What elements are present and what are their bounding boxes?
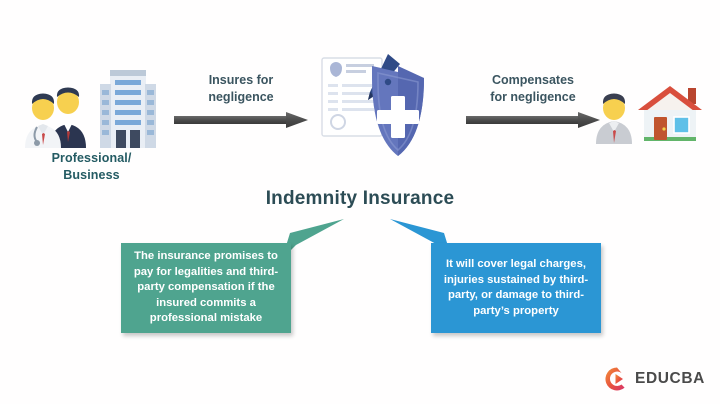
educba-logo: EDUCBA [604,364,714,394]
insures-arrow-label: Insures for negligence [174,72,308,106]
professional-business-label: Professional/ Business [14,150,169,184]
doctor-businessman-icon [20,86,94,148]
third-party-group: Third-Party [588,82,718,182]
callout-green-tail-icon [282,219,344,259]
shield-with-cross-and-document-icon [316,52,436,176]
professional-label-line1: Professional/ [52,151,132,165]
insures-label-line1: Insures for [209,73,274,87]
diagram-canvas: Professional/ Business Insures for negli… [0,0,720,404]
house-icon [636,84,704,142]
person-icon [592,92,636,144]
compensates-arrow-label: Compensates for negligence [466,72,600,106]
indemnity-shield-group [316,52,436,176]
compensates-arrow-group: Compensates for negligence [466,72,600,134]
insures-label-line2: negligence [208,90,273,104]
callout-blue-box: It will cover legal charges, injuries su… [431,243,601,333]
insures-arrow-icon [174,112,308,128]
page-title: Indemnity Insurance [210,188,510,210]
callout-blue-text: It will cover legal charges, injuries su… [441,257,591,319]
compensates-label-line1: Compensates [492,73,574,87]
educba-mark-icon [604,366,630,392]
insures-arrow-group: Insures for negligence [174,72,308,134]
callout-green-text: The insurance promises to pay for legali… [131,249,281,327]
office-building-icon [98,62,158,148]
educba-wordmark: EDUCBA [635,370,705,388]
professional-business-group: Professional/ Business [14,58,174,178]
callout-green-box: The insurance promises to pay for legali… [121,243,291,333]
compensates-arrow-icon [466,112,600,128]
professional-label-line2: Business [63,168,119,182]
compensates-label-line2: for negligence [490,90,575,104]
